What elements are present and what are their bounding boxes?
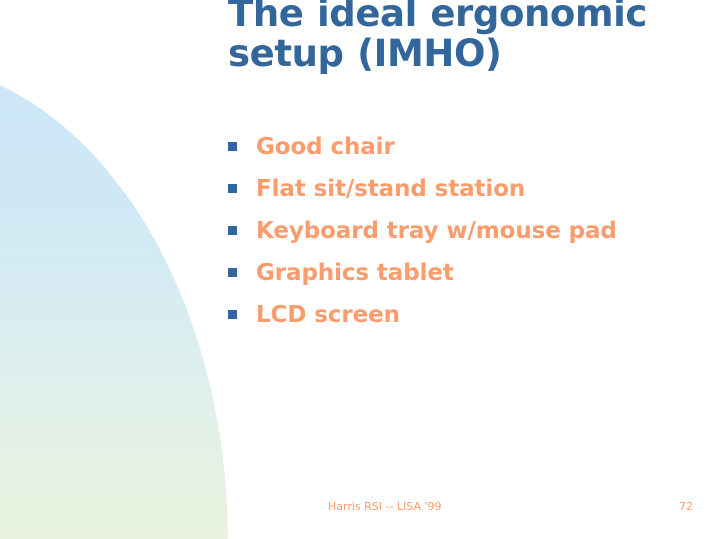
- list-item: Graphics tablet: [228, 252, 698, 294]
- square-bullet-icon: [228, 226, 237, 235]
- list-item: Good chair: [228, 126, 698, 168]
- list-item: Flat sit/stand station: [228, 168, 698, 210]
- square-bullet-icon: [228, 184, 237, 193]
- slide-title: The ideal ergonomic setup (IMHO): [228, 0, 698, 74]
- list-item-label: Flat sit/stand station: [256, 176, 525, 202]
- list-item-label: Keyboard tray w/mouse pad: [256, 218, 617, 244]
- square-bullet-icon: [228, 268, 237, 277]
- list-item-label: Graphics tablet: [256, 260, 454, 286]
- square-bullet-icon: [228, 142, 237, 151]
- slide-footer: Harris RSI -- LISA '99 72: [0, 500, 719, 522]
- bullet-list: Good chair Flat sit/stand station Keyboa…: [228, 126, 698, 336]
- list-item-label: Good chair: [256, 134, 395, 160]
- presentation-slide: The ideal ergonomic setup (IMHO) Good ch…: [0, 0, 719, 539]
- footer-note: Harris RSI -- LISA '99: [328, 500, 442, 514]
- square-bullet-icon: [228, 310, 237, 319]
- page-number: 72: [679, 500, 693, 514]
- list-item: Keyboard tray w/mouse pad: [228, 210, 698, 252]
- list-item: LCD screen: [228, 294, 698, 336]
- list-item-label: LCD screen: [256, 302, 400, 328]
- slide-title-block: The ideal ergonomic setup (IMHO): [228, 0, 698, 74]
- decorative-gradient-ellipse: [0, 62, 228, 539]
